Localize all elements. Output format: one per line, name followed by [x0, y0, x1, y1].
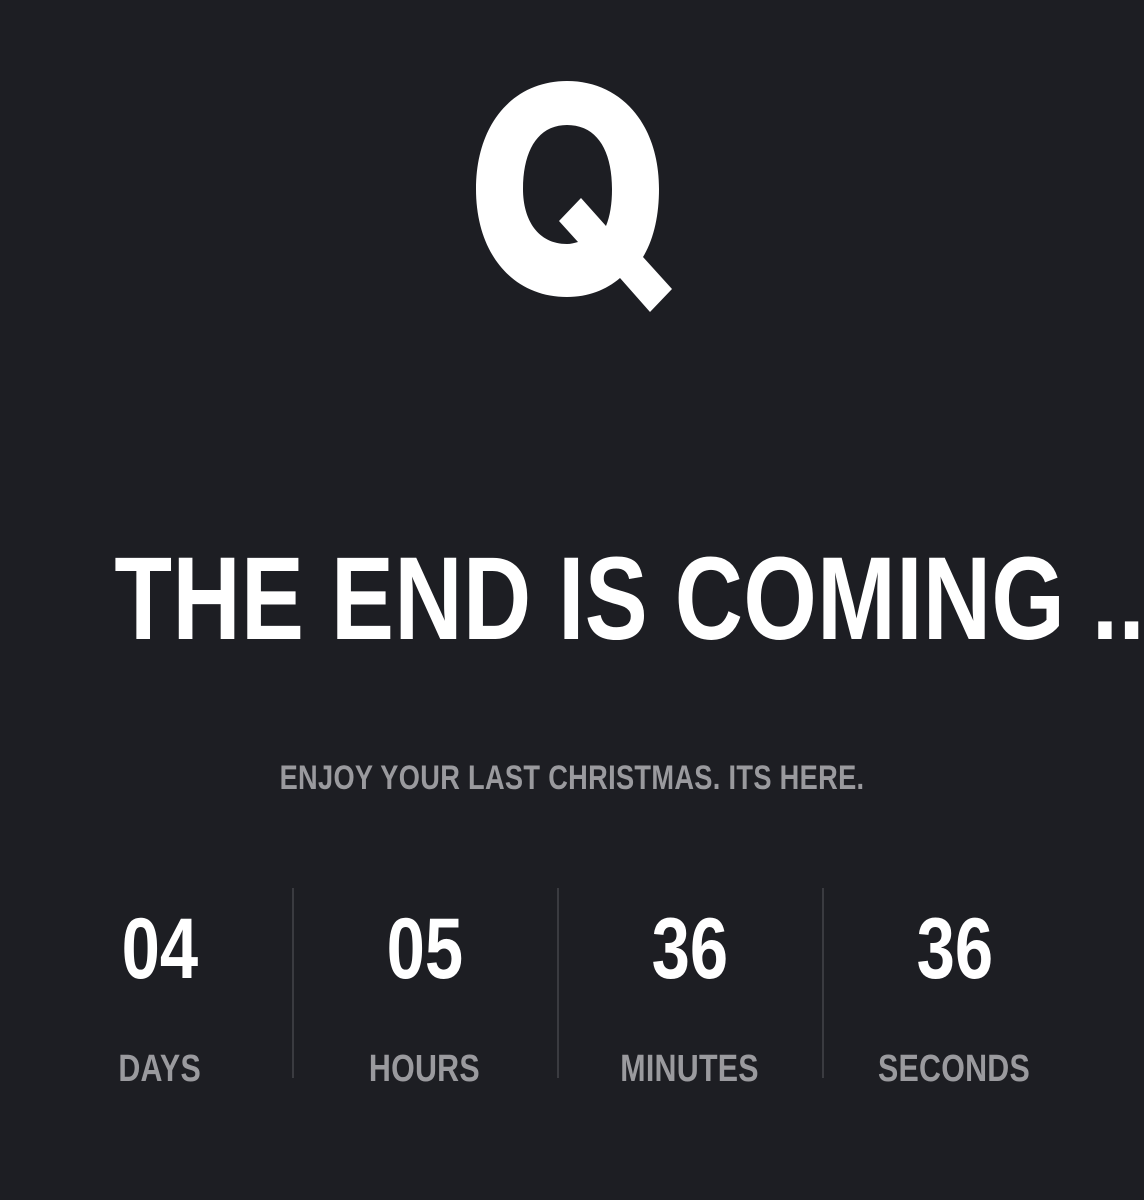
countdown-label-days: DAYS: [118, 1050, 201, 1088]
countdown-unit-minutes: 36 MINUTES: [557, 888, 822, 1078]
countdown-label-hours: HOURS: [369, 1050, 480, 1088]
countdown-label-minutes: MINUTES: [620, 1050, 758, 1088]
countdown-unit-seconds: 36 SECONDS: [822, 888, 1087, 1078]
countdown-value-seconds: 36: [916, 906, 993, 992]
countdown-page: THE END IS COMING ... ENJOY YOUR LAST CH…: [0, 0, 1144, 1200]
countdown-value-minutes: 36: [651, 906, 728, 992]
letter-q-logo-icon: [472, 81, 672, 321]
countdown-value-hours: 05: [386, 906, 463, 992]
countdown-label-seconds: SECONDS: [878, 1050, 1030, 1088]
countdown-timer: 04 DAYS 05 HOURS 36 MINUTES 36 SECONDS: [27, 888, 1087, 1078]
page-title: THE END IS COMING ...: [114, 540, 1029, 658]
countdown-unit-days: 04 DAYS: [27, 888, 292, 1078]
logo-container: [0, 56, 1144, 346]
page-subtitle: ENJOY YOUR LAST CHRISTMAS. ITS HERE.: [114, 760, 1029, 796]
countdown-unit-hours: 05 HOURS: [292, 888, 557, 1078]
countdown-value-days: 04: [121, 906, 198, 992]
